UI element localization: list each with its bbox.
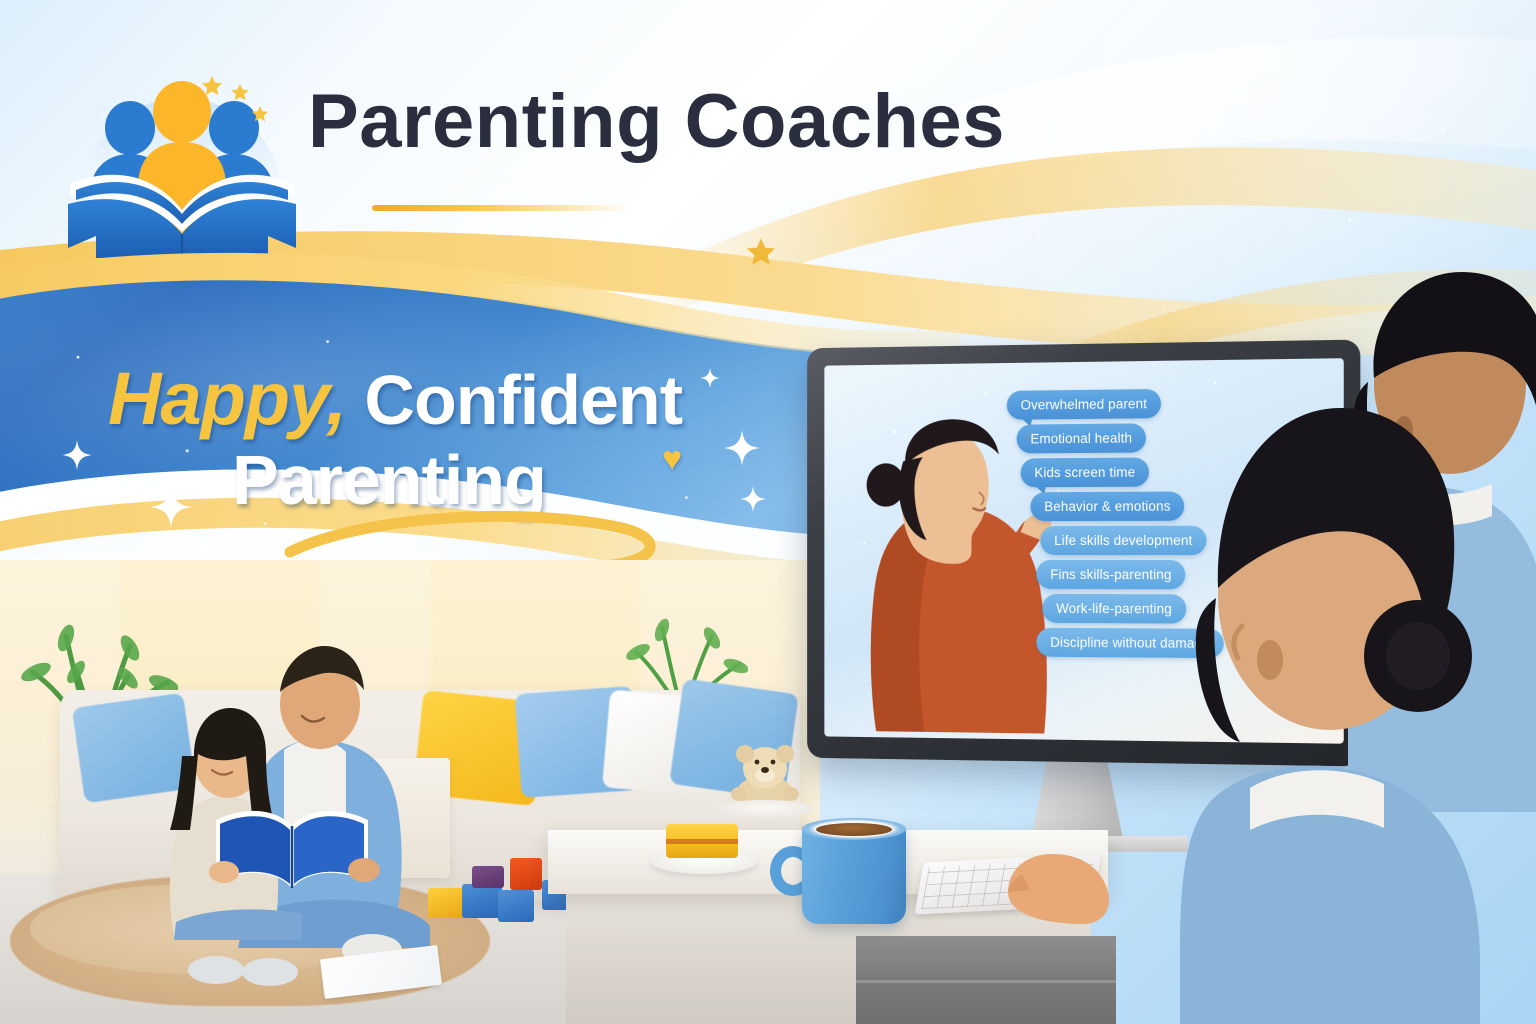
topic-bubble[interactable]: Behavior & emotions	[1030, 492, 1184, 522]
hero-word-confident: Confident	[346, 361, 682, 439]
viewer-woman	[1180, 388, 1480, 1024]
hero-headline-line1: Happy, Confident	[108, 356, 682, 441]
topic-bubble[interactable]: Overwhelmed parent	[1007, 389, 1161, 420]
heart-icon: ♥	[662, 440, 682, 479]
toy-block-red	[510, 858, 542, 890]
toy-block-blue-1	[462, 884, 502, 918]
hero-accent-word: Happy,	[108, 357, 346, 440]
yellow-cake-snack	[666, 824, 738, 858]
hero-headline-line2: Parenting	[232, 440, 546, 520]
topic-bubble[interactable]: Emotional health	[1017, 423, 1147, 453]
hero-banner-image: Parenting Coaches	[0, 0, 1536, 1024]
header: Parenting Coaches	[0, 0, 1120, 260]
toy-block-yellow-1	[428, 888, 464, 918]
topic-bubble[interactable]: Fins skills-parenting	[1036, 560, 1185, 589]
desk-cabinet	[856, 936, 1116, 1024]
topic-bubble[interactable]: Work-life-parenting	[1042, 594, 1186, 624]
hand-on-keyboard	[990, 836, 1110, 926]
toy-block-purple	[472, 866, 504, 888]
bear-plate	[716, 800, 814, 818]
page-title: Parenting Coaches	[308, 78, 1005, 165]
title-underline-accent	[372, 205, 632, 211]
hero-headline: Happy, Confident Parenting	[0, 262, 760, 562]
topic-bubble[interactable]: Kids screen time	[1021, 457, 1150, 487]
family-reading-group	[120, 620, 480, 1000]
coffee-surface	[816, 823, 892, 836]
toy-block-blue-2	[498, 890, 534, 922]
teddy-bear	[726, 742, 804, 808]
